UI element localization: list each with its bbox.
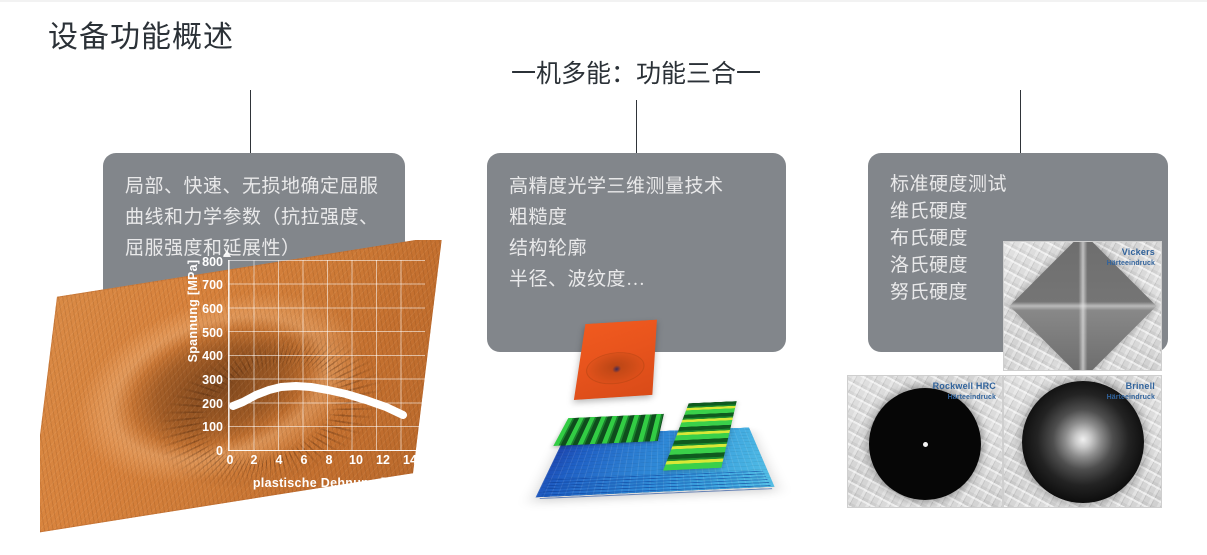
brinell-caption-subtitle: Härteeindruck xyxy=(1107,392,1155,403)
stress-strain-surface-figure: 800 700 600 500 400 300 200 100 0 0 2 4 … xyxy=(40,240,490,540)
x-tick-2: 2 xyxy=(243,454,265,467)
y-axis-ticks: 800 700 600 500 400 300 200 100 0 xyxy=(177,248,223,462)
rockwell-caption-title: Rockwell HRC xyxy=(933,381,996,391)
topography-scene xyxy=(524,295,807,507)
rockwell-caption: Rockwell HRC Härteeindruck xyxy=(933,381,996,403)
component-block xyxy=(574,320,657,400)
panel-2-line-2: 粗糙度 xyxy=(509,202,772,233)
rockwell-indent-shape xyxy=(869,388,981,500)
topography-3d-figure xyxy=(524,298,786,510)
y-tick-200: 200 xyxy=(189,398,223,410)
panel-2-line-3: 结构轮廓 xyxy=(509,233,772,264)
y-tick-100: 100 xyxy=(189,421,223,433)
x-tick-6: 6 xyxy=(293,454,315,467)
stress-strain-chart: 800 700 600 500 400 300 200 100 0 0 2 4 … xyxy=(165,248,465,510)
vickers-caption-subtitle: Härteeindruck xyxy=(1107,258,1155,269)
x-axis-arrow xyxy=(423,445,430,453)
x-tick-10: 10 xyxy=(345,454,367,467)
top-divider xyxy=(0,0,1207,2)
x-tick-14: 14 xyxy=(399,454,421,467)
brinell-caption-title: Brinell xyxy=(1126,381,1155,391)
micrograph-brinell: Brinell Härteeindruck xyxy=(1003,375,1162,508)
x-tick-16: 16 xyxy=(426,454,448,467)
flow-curve xyxy=(228,260,424,450)
panel-2-line-1: 高精度光学三维测量技术 xyxy=(509,171,772,202)
y-tick-0: 0 xyxy=(189,445,223,457)
brinell-caption: Brinell Härteeindruck xyxy=(1107,381,1155,403)
bracket-drop-center xyxy=(636,100,637,155)
bracket-label: 一机多能：功能三合一 xyxy=(250,54,1022,90)
x-tick-8: 8 xyxy=(318,454,340,467)
bracket-label-text: 一机多能：功能三合一 xyxy=(505,61,767,88)
component-dimple xyxy=(585,351,645,385)
x-tick-12: 12 xyxy=(372,454,394,467)
panel-3-line-2: 维氏硬度 xyxy=(890,198,1154,225)
x-tick-4: 4 xyxy=(268,454,290,467)
vickers-caption-title: Vickers xyxy=(1122,247,1155,257)
page-title: 设备功能概述 xyxy=(48,12,234,56)
micrograph-rockwell: Rockwell HRC Härteeindruck xyxy=(847,375,1003,508)
panel-3-line-1: 标准硬度测试 xyxy=(890,171,1154,198)
slide-canvas: 设备功能概述 一机多能：功能三合一 局部、快速、无损地确定屈服曲线和力学参数（抗… xyxy=(0,0,1207,555)
x-tick-0: 0 xyxy=(219,454,241,467)
rockwell-caption-subtitle: Härteeindruck xyxy=(933,392,996,403)
x-axis-ticks: 0 2 4 6 8 10 12 14 16 xyxy=(228,454,443,470)
vickers-caption: Vickers Härteeindruck xyxy=(1107,247,1155,269)
connector-pins-left xyxy=(553,414,664,446)
y-axis-label: Spannung [MPa] xyxy=(186,241,200,381)
x-axis-label: plastische Dehnung [%] xyxy=(205,476,449,490)
y-axis-arrow xyxy=(223,250,231,257)
micrograph-vickers: Vickers Härteeindruck xyxy=(1003,241,1162,371)
panel-2-line-4: 半径、波纹度… xyxy=(509,264,772,295)
panel-2-text: 高精度光学三维测量技术 粗糙度 结构轮廓 半径、波纹度… xyxy=(509,171,772,295)
